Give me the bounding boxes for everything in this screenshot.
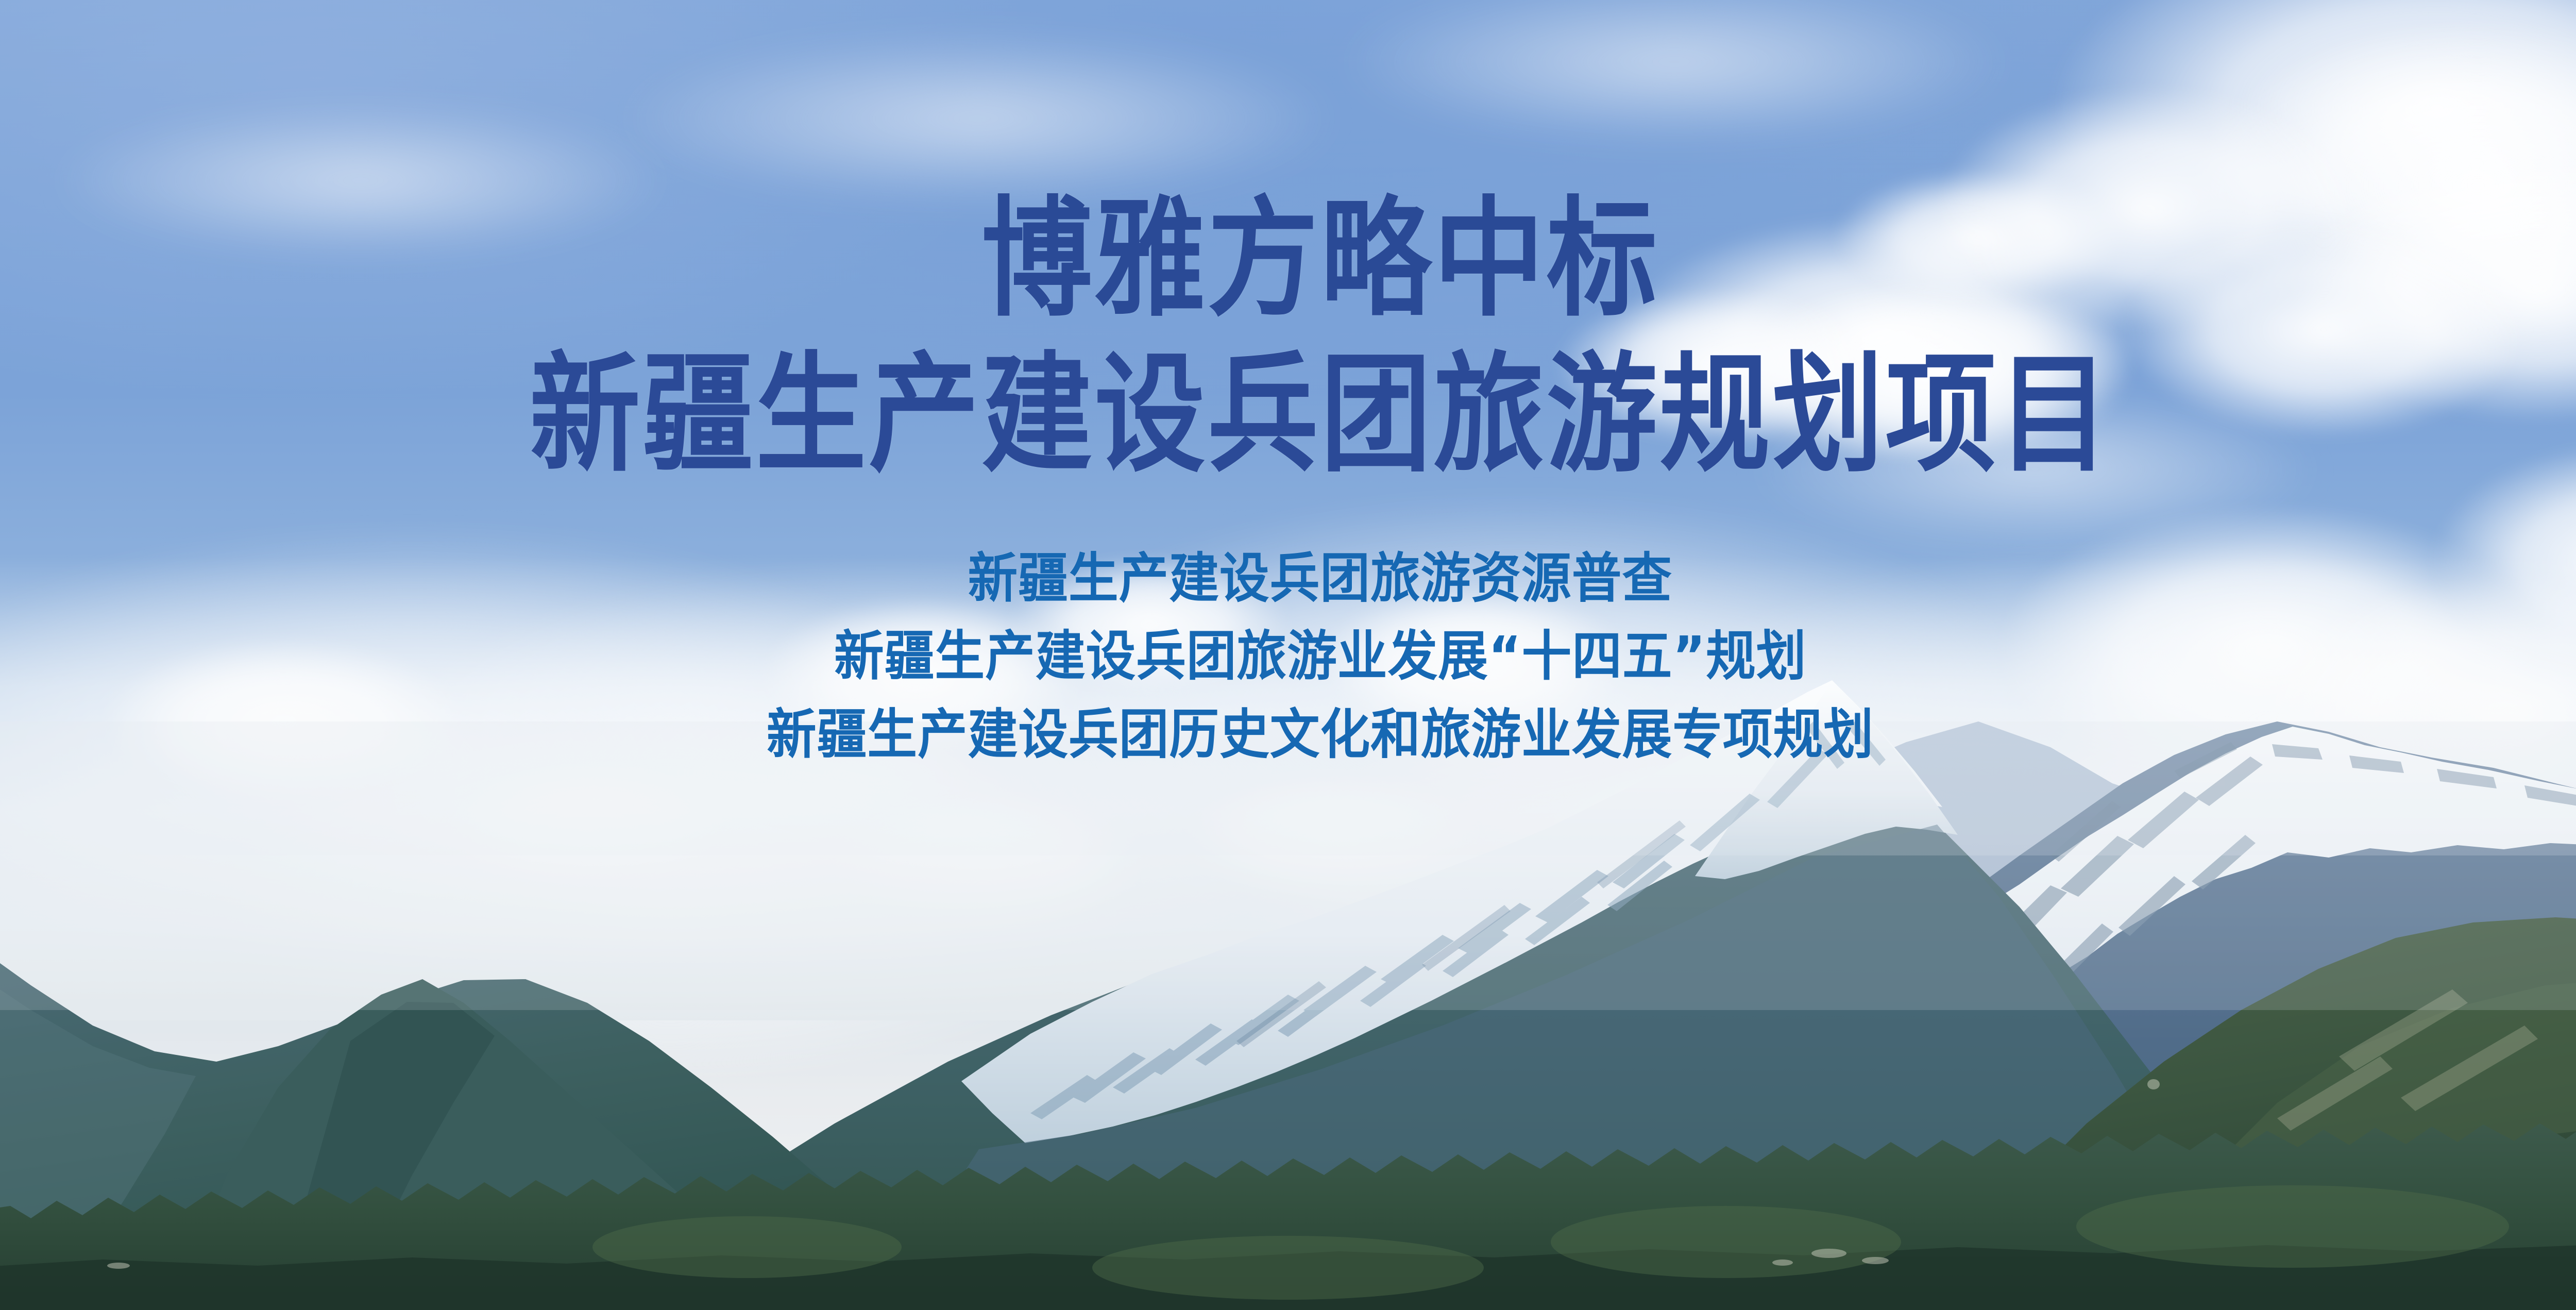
subtitle-line-1: 新疆生产建设兵团旅游资源普查 <box>968 543 1673 614</box>
subtitle-line-2: 新疆生产建设兵团旅游业发展“十四五”规划 <box>834 621 1806 692</box>
headline-line-2: 新疆生产建设兵团旅游规划项目 <box>529 350 2111 479</box>
headline-line-1: 博雅方略中标 <box>981 195 1659 324</box>
subtitle-group: 新疆生产建设兵团旅游资源普查 新疆生产建设兵团旅游业发展“十四五”规划 新疆生产… <box>725 543 1916 770</box>
subtitle-line-3: 新疆生产建设兵团历史文化和旅游业发展专项规划 <box>767 699 1874 770</box>
poster-banner: 博雅方略中标 新疆生产建设兵团旅游规划项目 新疆生产建设兵团旅游资源普查 新疆生… <box>0 0 2576 1310</box>
